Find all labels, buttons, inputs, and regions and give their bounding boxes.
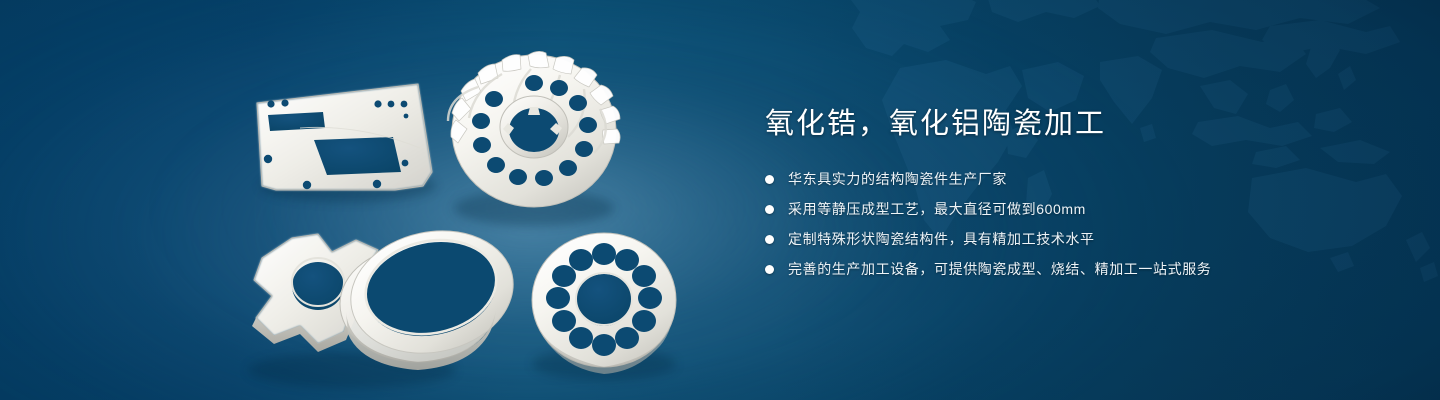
list-item: 定制特殊形状陶瓷结构件，具有精加工技术水平 xyxy=(765,228,1365,250)
feature-list: 华东具实力的结构陶瓷件生产厂家 采用等静压成型工艺，最大直径可做到600mm 定… xyxy=(765,168,1365,280)
bullet-dot-icon xyxy=(765,235,774,244)
list-item-label: 定制特殊形状陶瓷结构件，具有精加工技术水平 xyxy=(788,228,1095,250)
promo-banner: 氧化锆，氧化铝陶瓷加工 华东具实力的结构陶瓷件生产厂家 采用等静压成型工艺，最大… xyxy=(0,0,1440,400)
list-item-label: 华东具实力的结构陶瓷件生产厂家 xyxy=(788,168,1007,190)
bullet-dot-icon xyxy=(765,175,774,184)
list-item: 华东具实力的结构陶瓷件生产厂家 xyxy=(765,168,1365,190)
banner-copy: 氧化锆，氧化铝陶瓷加工 华东具实力的结构陶瓷件生产厂家 采用等静压成型工艺，最大… xyxy=(765,106,1365,280)
ceramic-impeller xyxy=(448,51,620,207)
bullet-dot-icon xyxy=(765,265,774,274)
list-item: 采用等静压成型工艺，最大直径可做到600mm xyxy=(765,198,1365,220)
ceramic-flat-plate xyxy=(257,84,432,190)
list-item-label: 完善的生产加工设备，可提供陶瓷成型、烧结、精加工一站式服务 xyxy=(788,258,1211,280)
ceramic-rings xyxy=(339,216,524,370)
list-item-label: 采用等静压成型工艺，最大直径可做到600mm xyxy=(788,198,1086,220)
ceramic-products-photo xyxy=(0,0,760,400)
page-title: 氧化锆，氧化铝陶瓷加工 xyxy=(765,106,1365,142)
list-item: 完善的生产加工设备，可提供陶瓷成型、烧结、精加工一站式服务 xyxy=(765,258,1365,280)
bullet-dot-icon xyxy=(765,205,774,214)
